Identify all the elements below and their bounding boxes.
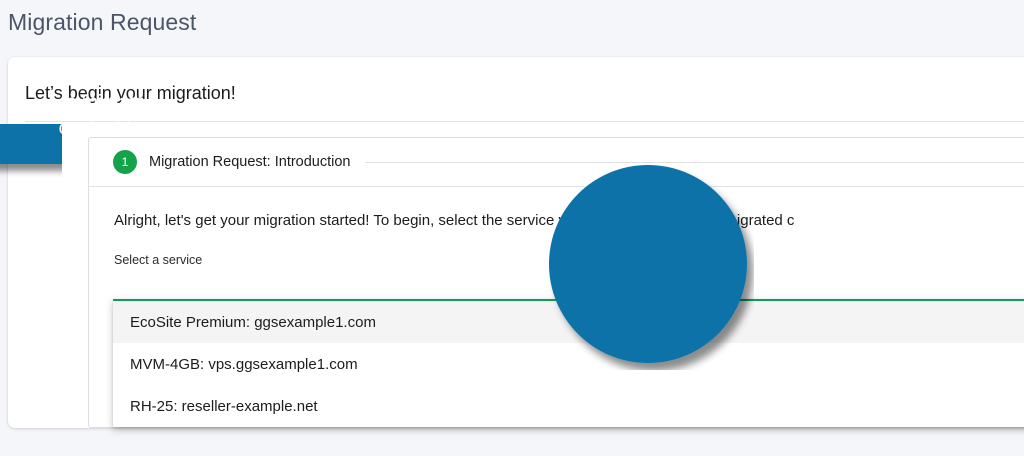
card-heading: Let’s begin your migration! bbox=[25, 83, 236, 104]
dropdown-option-rh-25[interactable]: RH-25: reseller-example.net bbox=[113, 385, 1024, 427]
step-header: 1 Migration Request: Introduction bbox=[89, 138, 1024, 186]
dropdown-option-mvm-4gb[interactable]: MVM-4GB: vps.ggsexample1.com bbox=[113, 343, 1024, 385]
step-title: Migration Request: Introduction bbox=[149, 154, 351, 170]
dropdown-option-ecosite-premium[interactable]: EcoSite Premium: ggsexample1.com bbox=[113, 301, 1024, 343]
card-divider bbox=[25, 121, 1024, 122]
step-number-badge: 1 bbox=[113, 150, 137, 174]
step-header-rule bbox=[365, 162, 1024, 163]
intro-paragraph: Alright, let's get your migration starte… bbox=[114, 211, 1024, 231]
migration-request-page: Migration Request Let’s begin your migra… bbox=[0, 0, 1024, 456]
service-dropdown-list[interactable]: EcoSite Premium: ggsexample1.com MVM-4GB… bbox=[113, 299, 1024, 427]
page-title: Migration Request bbox=[8, 9, 196, 36]
service-select-label: Select a service bbox=[114, 253, 1024, 267]
